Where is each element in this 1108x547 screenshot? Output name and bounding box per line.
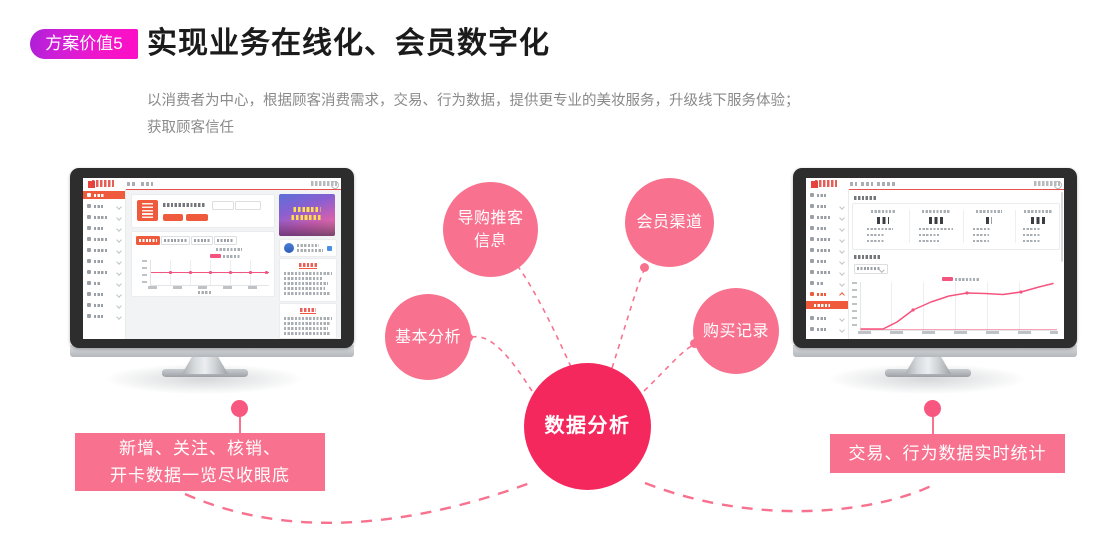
tab-label [139, 239, 157, 242]
sidebar-label [94, 216, 107, 220]
left-chart-plot [150, 260, 269, 286]
sidebar-label [817, 205, 826, 209]
right-callout-dot [924, 400, 941, 417]
stat-sub [1023, 228, 1041, 230]
right-dash-section-title [854, 196, 876, 200]
chevron-down-icon [116, 259, 122, 265]
people-icon [810, 270, 814, 274]
order-icon [810, 248, 814, 252]
sidebar-label [94, 249, 108, 253]
bubble-goumai[interactable]: 购买记录 [693, 288, 779, 374]
sidebar-item-8[interactable] [83, 268, 125, 276]
left-dash-logo-text [92, 180, 114, 187]
chevron-down-icon [116, 237, 122, 243]
sidebar-label [94, 271, 107, 275]
connector-dot-daogou [498, 244, 507, 253]
card-icon [87, 226, 91, 230]
sidebar-label [94, 315, 103, 319]
left-dashboard[interactable] [83, 178, 341, 339]
product-item[interactable] [284, 332, 331, 335]
stat-value [1031, 217, 1045, 224]
sidebar-label [94, 205, 103, 209]
stat-sub [919, 234, 939, 236]
tab-label [164, 239, 187, 242]
left-dash-avatar[interactable] [331, 181, 339, 189]
sidebar-item-9[interactable] [806, 279, 848, 287]
spoke-goumai [644, 344, 696, 391]
sidebar-label [817, 227, 826, 231]
product-card-underline [300, 313, 316, 314]
chevron-down-icon [116, 303, 122, 309]
sidebar-label [94, 227, 103, 231]
sidebar-item-4[interactable] [806, 224, 848, 232]
flag-icon [87, 281, 91, 285]
sidebar-item-5[interactable] [806, 235, 848, 243]
subtitle-line-2: 获取顾客信任 [147, 115, 947, 142]
chevron-down-icon [839, 215, 845, 221]
bubble-jiben[interactable]: 基本分析 [385, 294, 471, 380]
chevron-down-icon [839, 327, 845, 333]
stat-sub [919, 228, 953, 230]
sidebar-item-11[interactable] [806, 314, 848, 322]
sidebar-item-7[interactable] [83, 257, 125, 265]
news-card-underline [299, 268, 317, 269]
bubble-goumai-label: 购买记录 [703, 320, 769, 343]
stat-value [929, 217, 943, 224]
company-logo-glyph [142, 203, 153, 218]
stat-sub [919, 240, 939, 242]
sidebar-label [814, 304, 830, 308]
gear-icon [87, 314, 91, 318]
left-dash-profile-card [131, 194, 275, 228]
right-callout: 交易、行为数据实时统计 [830, 434, 1065, 473]
profile-badge-1 [163, 214, 183, 221]
right-monitor-bezel [793, 168, 1077, 348]
right-chart-section-title [854, 255, 880, 259]
chevron-down-icon [116, 292, 122, 298]
right-chart-legend-label [955, 278, 979, 281]
sidebar-label [817, 216, 830, 220]
page-header: 方案价值5 实现业务在线化、会员数字化 以消费者为中心，根据顾客消费需求，交易、… [0, 0, 1108, 150]
left-dash-sidebar[interactable] [83, 189, 126, 339]
chart-tab-1[interactable] [136, 236, 160, 245]
right-monitor-screen[interactable] [806, 178, 1064, 339]
stat-label [871, 210, 895, 213]
stat-value [877, 217, 889, 224]
chevron-down-icon [839, 316, 845, 322]
right-chart-x-ticks [858, 331, 1058, 334]
sidebar-item-11[interactable] [83, 301, 125, 309]
news-item[interactable] [284, 277, 322, 280]
bubble-daogou[interactable]: 导购推客 信息 [443, 182, 538, 277]
home-icon [87, 193, 91, 197]
connector-dot-huiyuan [640, 263, 649, 272]
sidebar-label [817, 271, 830, 275]
news-item[interactable] [284, 292, 331, 295]
left-dash-user-card [279, 239, 337, 257]
chevron-down-icon [839, 281, 845, 287]
sidebar-label [817, 282, 824, 286]
sidebar-label [94, 304, 103, 308]
right-dash-avatar[interactable] [1054, 181, 1062, 189]
right-callout-stem [932, 414, 934, 436]
profile-tag-2[interactable] [235, 201, 261, 210]
spoke-jiben [469, 337, 532, 391]
sidebar-label [817, 328, 826, 332]
product-item[interactable] [284, 322, 330, 325]
sidebar-item-12[interactable] [83, 312, 125, 320]
chart-icon [810, 292, 814, 296]
chevron-down-icon [839, 226, 845, 232]
left-callout-text: 新增、关注、核销、 开卡数据一览尽收眼底 [110, 435, 290, 489]
tab-label [217, 239, 234, 242]
left-dash-news-card [279, 258, 337, 302]
sidebar-label [817, 260, 826, 264]
news-item[interactable] [284, 287, 325, 290]
users-icon [87, 237, 91, 241]
stat-label [976, 210, 1002, 213]
right-dash-breadcrumb[interactable] [850, 182, 857, 186]
spoke-huiyuan [612, 268, 645, 368]
sidebar-label [817, 293, 826, 297]
right-chart-y-ticks [852, 282, 857, 328]
center-node[interactable]: 数据分析 [524, 363, 651, 490]
chart-tab-3[interactable] [191, 236, 213, 245]
order-icon [87, 248, 91, 252]
chevron-down-icon [116, 248, 122, 254]
stat-sub [867, 228, 893, 230]
right-dashboard[interactable] [806, 178, 1064, 339]
right-dash-breadcrumb-2[interactable] [861, 182, 873, 186]
left-monitor-screen[interactable] [83, 178, 341, 339]
sidebar-item-9[interactable] [83, 279, 125, 287]
product-item[interactable] [284, 317, 332, 320]
stat-sub [1023, 234, 1041, 236]
news-item[interactable] [284, 272, 332, 275]
chat-icon [810, 215, 814, 219]
box-icon [810, 259, 814, 263]
left-chart-xlabel [198, 291, 212, 294]
box-icon [87, 259, 91, 263]
banner-text-line1 [294, 207, 321, 212]
right-dash-logo-text [815, 180, 837, 187]
stat-divider [909, 210, 910, 243]
company-name [163, 203, 205, 207]
chevron-down-icon [116, 226, 122, 232]
chart-tab-2[interactable] [161, 236, 190, 245]
left-chart-legend-label [223, 255, 240, 258]
sidebar-item-7[interactable] [806, 257, 848, 265]
product-card-title [300, 308, 316, 312]
stat-label [1024, 210, 1052, 213]
left-chart-y-ticks [142, 260, 147, 284]
sidebar-item-2[interactable] [83, 202, 125, 210]
sidebar-item-2[interactable] [806, 202, 848, 210]
chat-icon [87, 215, 91, 219]
stat-divider [963, 210, 964, 243]
value-badge: 方案价值5 [30, 29, 138, 59]
right-dash-scrollbar[interactable] [1061, 192, 1063, 262]
sidebar-item-3[interactable] [806, 213, 848, 221]
sidebar-item-5[interactable] [83, 235, 125, 243]
page-title: 实现业务在线化、会员数字化 [147, 24, 550, 64]
sidebar-item-6[interactable] [83, 246, 125, 254]
user-card-line2 [297, 249, 323, 252]
bubble-huiyuan-label: 会员渠道 [636, 211, 702, 234]
bubble-huiyuan[interactable]: 会员渠道 [625, 178, 714, 267]
left-dash-product-card [279, 303, 337, 339]
note-icon [87, 303, 91, 307]
right-chart-series [861, 282, 1057, 330]
chart-tab-4[interactable] [214, 236, 237, 245]
right-dash-breadcrumb-3[interactable] [877, 182, 897, 186]
sidebar-label [94, 260, 103, 264]
sidebar-item-home[interactable] [83, 191, 125, 199]
sidebar-item-data[interactable] [806, 290, 848, 298]
news-card-title [299, 263, 317, 267]
left-callout-dot [231, 400, 248, 417]
stat-label [922, 210, 950, 213]
card-icon [810, 226, 814, 230]
left-chart-point [189, 271, 192, 274]
banner-text-line2 [292, 215, 323, 220]
left-dash-banner[interactable] [279, 194, 335, 236]
grid-icon [87, 204, 91, 208]
left-chart-x-ticks [148, 286, 270, 289]
left-dash-chart-card [131, 231, 275, 297]
bottom-curve-right [645, 483, 935, 511]
chevron-down-icon [839, 259, 845, 265]
stat-value [986, 217, 992, 224]
sidebar-label [94, 238, 108, 242]
profile-tag-1[interactable] [212, 201, 234, 210]
stat-sub [1023, 240, 1041, 242]
sidebar-label [817, 249, 831, 253]
left-dash-breadcrumb-2[interactable] [141, 182, 153, 186]
chevron-down-icon [116, 215, 122, 221]
left-chart-point [229, 271, 232, 274]
left-monitor-bezel [70, 168, 354, 348]
sidebar-item-3[interactable] [83, 213, 125, 221]
subtitle-line-1: 以消费者为中心，根据顾客消费需求，交易、行为数据，提供更专业的美妆服务，升级线下… [147, 88, 947, 115]
right-chart-legend-swatch [942, 277, 953, 281]
tab-label [194, 239, 210, 242]
left-chart-point [209, 271, 212, 274]
right-chart-plot [860, 282, 1057, 331]
left-chart-point [265, 271, 268, 274]
stat-sub [867, 240, 885, 242]
home-icon [810, 193, 814, 197]
connector-dot-jiben [464, 333, 473, 342]
stat-sub [867, 234, 885, 236]
user-card-icon[interactable] [327, 246, 332, 251]
right-dash-sidebar[interactable] [806, 189, 849, 339]
sidebar-label [94, 282, 101, 286]
profile-badge-2 [186, 214, 208, 221]
chart-icon [87, 292, 91, 296]
chevron-down-icon [839, 248, 845, 254]
right-chart-date-select[interactable] [854, 264, 888, 274]
chevron-up-icon [839, 292, 845, 298]
sidebar-item-8[interactable] [806, 268, 848, 276]
sidebar-item-home[interactable] [806, 191, 848, 199]
right-monitor [793, 168, 1083, 418]
right-callout-text: 交易、行为数据实时统计 [849, 440, 1047, 467]
chevron-down-icon [839, 237, 845, 243]
chevron-down-icon [116, 204, 122, 210]
sidebar-label [817, 194, 826, 198]
sidebar-label [94, 293, 103, 297]
sidebar-item-10[interactable] [83, 290, 125, 298]
left-chart-title [216, 248, 242, 251]
sidebar-item-12[interactable] [806, 325, 848, 333]
sidebar-label [817, 238, 831, 242]
chevron-down-icon [116, 281, 122, 287]
left-chart-legend-swatch [210, 254, 221, 258]
stat-sub [973, 234, 989, 236]
chevron-down-icon [839, 270, 845, 276]
stat-sub [973, 240, 989, 242]
avatar [284, 243, 294, 253]
chevron-down-icon [880, 267, 885, 272]
user-card-line1 [297, 244, 319, 247]
chevron-down-icon [839, 204, 845, 210]
chevron-down-icon [116, 314, 122, 320]
chevron-down-icon [116, 270, 122, 276]
left-chart-point [249, 271, 252, 274]
select-value [857, 267, 880, 270]
users-icon [810, 237, 814, 241]
sidebar-item-6[interactable] [806, 246, 848, 254]
bubble-jiben-label: 基本分析 [395, 326, 461, 349]
people-icon [87, 270, 91, 274]
stat-sub [973, 228, 991, 230]
connector-dot-goumai [690, 339, 699, 348]
product-item[interactable] [284, 327, 328, 330]
grid-icon [810, 204, 814, 208]
left-chart-point [169, 271, 172, 274]
bubble-daogou-label: 导购推客 信息 [457, 207, 523, 253]
sidebar-label [817, 317, 826, 321]
sidebar-label [94, 194, 105, 198]
right-chart-baseline [861, 329, 1057, 330]
sidebar-item-4[interactable] [83, 224, 125, 232]
stat-divider [1015, 210, 1016, 243]
news-item[interactable] [284, 282, 328, 285]
right-dash-stats-card [852, 203, 1060, 250]
page-subtitle: 以消费者为中心，根据顾客消费需求，交易、行为数据，提供更专业的美妆服务，升级线下… [147, 88, 947, 142]
note-icon [810, 316, 814, 320]
left-callout: 新增、关注、核销、 开卡数据一览尽收眼底 [75, 433, 325, 491]
sidebar-item-data-overview[interactable] [806, 301, 848, 309]
flag-icon [810, 281, 814, 285]
left-monitor [70, 168, 360, 418]
left-dash-breadcrumb[interactable] [127, 182, 135, 186]
gear-icon [810, 327, 814, 331]
center-node-label: 数据分析 [545, 415, 631, 438]
